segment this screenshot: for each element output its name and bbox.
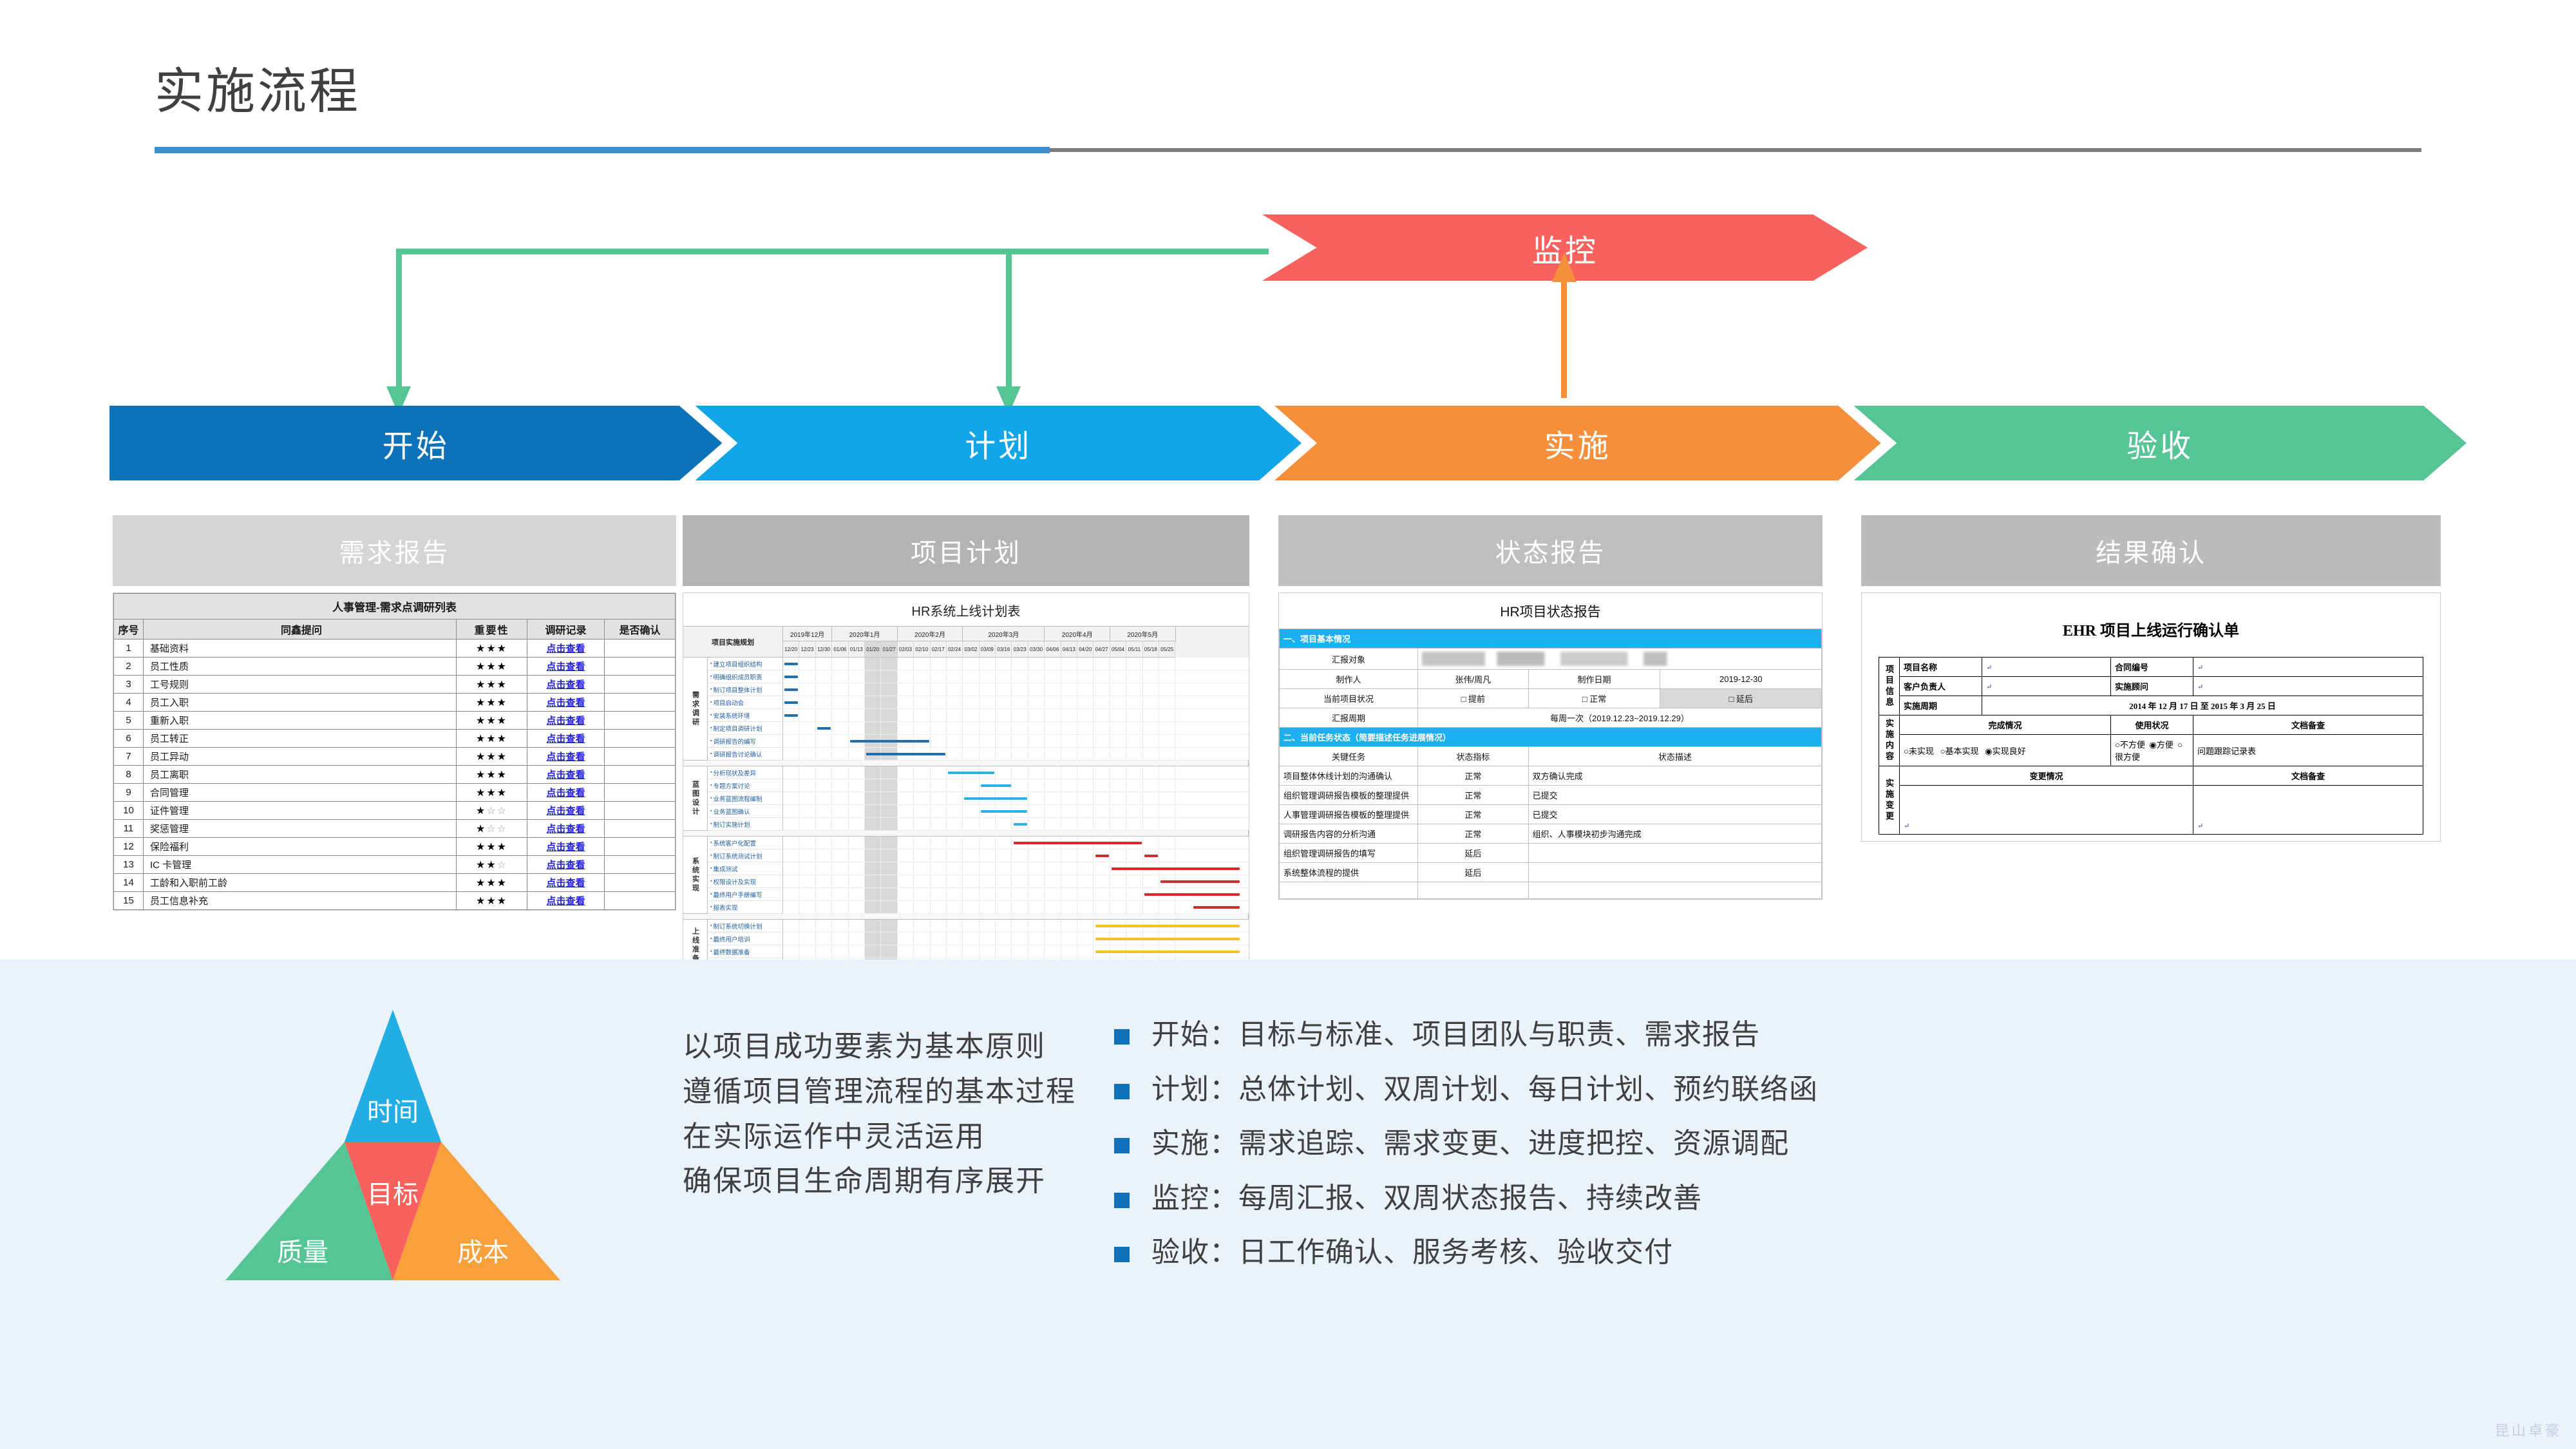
cell-question: 基础资料 [144, 639, 457, 658]
cell-indicator: 正常 [1418, 786, 1529, 805]
requirements-table-title: 人事管理-需求点调研列表 [114, 594, 676, 620]
gantt-task-name: 分析现状及差异 [708, 766, 783, 779]
gantt-task-names: 建立项目组织结构明确组织成员职责制订项目整体计划项目启动会安装系统环境制定项目调… [708, 658, 783, 761]
ehr-row-client-owner: 客户负责人 ↵ 实施顾问 ↵ [1879, 677, 2423, 696]
cell-key-task: 组织管理调研报告模板的整理提供 [1280, 786, 1418, 805]
gantt-bar [964, 797, 1027, 800]
chevron-phase-start[interactable]: 开始 [109, 406, 722, 480]
gantt-task-row [783, 837, 1249, 849]
label-report-to: 汇报对象 [1280, 649, 1418, 670]
cell-question: 保险福利 [144, 838, 457, 856]
cell-importance: ★★★ [457, 784, 527, 802]
chevron-phase-implement[interactable]: 实施 [1274, 406, 1881, 480]
ehr-side-project-info: 项目信息 [1879, 658, 1900, 715]
cell-record[interactable]: 点击查看 [527, 856, 605, 874]
ehr-label-contract-no: 合同编号 [2111, 658, 2193, 677]
table-row [1280, 882, 1822, 899]
cell-record[interactable]: 点击查看 [527, 694, 605, 712]
gantt-month-header: 2019年12月2020年1月2020年2月2020年3月2020年4月2020… [783, 627, 1249, 641]
cell-no: 15 [114, 892, 144, 910]
cell-importance: ★★★ [457, 874, 527, 892]
ehr-label-doc-check: 文档备查 [2193, 715, 2423, 735]
cell-record[interactable]: 点击查看 [527, 766, 605, 784]
cell-importance: ★★★ [457, 639, 527, 658]
view-record-link[interactable]: 点击查看 [546, 788, 585, 799]
card-header-status-report: 状态报告 [1278, 515, 1823, 586]
table-row: 4员工入职★★★点击查看 [114, 694, 676, 712]
gantt-week-8: 02/10 [914, 641, 930, 658]
table-row: 12保险福利★★★点击查看 [114, 838, 676, 856]
gantt-bar [1095, 951, 1240, 953]
cell-no: 4 [114, 694, 144, 712]
gantt-task-row [783, 945, 1249, 958]
ehr-label-period: 实施周期 [1900, 696, 1982, 715]
gantt-week-14: 03/23 [1012, 641, 1028, 658]
ehr-row-period: 实施周期 2014 年 12 月 17 日 至 2015 年 3 月 25 日 [1879, 696, 2423, 715]
view-record-link[interactable]: 点击查看 [546, 842, 585, 853]
gantt-week-3: 01/06 [832, 641, 848, 658]
ehr-label-client-owner: 客户负责人 [1900, 677, 1982, 696]
gantt-task-row [783, 670, 1249, 683]
cell-no: 10 [114, 802, 144, 820]
gantt-week-12: 03/09 [980, 641, 996, 658]
cell-no: 5 [114, 712, 144, 730]
chevron-label-acceptance: 验收 [2126, 421, 2193, 466]
cell-no: 9 [114, 784, 144, 802]
table-row: 14工龄和入职前工龄★★★点击查看 [114, 874, 676, 892]
view-record-link[interactable]: 点击查看 [546, 896, 585, 907]
view-record-link[interactable]: 点击查看 [546, 824, 585, 835]
gantt-phase-separator [683, 831, 783, 837]
col-indicator: 状态指标 [1418, 747, 1529, 766]
gantt-chart: HR系统上线计划表 项目实施规划 需求调研建立项目组织结构明确组织成员职责制订项… [683, 593, 1249, 1016]
ehr-field-doc-check-2[interactable]: ↵ [2193, 786, 2423, 835]
gantt-bar [1014, 823, 1027, 826]
cell-key-task: 人事管理调研报告模板的整理提供 [1280, 805, 1418, 824]
gantt-task-name: 集成测试 [708, 862, 783, 875]
square-bullet-icon [1114, 1138, 1130, 1153]
table-row: 15员工信息补充★★★点击查看 [114, 892, 676, 910]
cell-indicator: 延后 [1418, 863, 1529, 882]
cell-record[interactable]: 点击查看 [527, 748, 605, 766]
gantt-task-row [783, 748, 1249, 761]
cell-confirm[interactable] [605, 784, 676, 802]
label-current-status: 当前项目状况 [1280, 689, 1418, 708]
status-task-body: 项目整体休线计划的沟通确认正常双方确认完成组织管理调研报告模板的整理提供正常已提… [1280, 766, 1822, 899]
cell-no: 3 [114, 676, 144, 694]
cell-question: 合同管理 [144, 784, 457, 802]
view-record-link[interactable]: 点击查看 [546, 878, 585, 889]
checkbox-status-delayed[interactable]: □ 延后 [1660, 689, 1822, 708]
view-record-link[interactable]: 点击查看 [546, 679, 585, 690]
gantt-task-row [783, 696, 1249, 709]
gantt-phase-label: 需求调研 [683, 658, 708, 761]
cell-confirm[interactable] [605, 730, 676, 748]
card-body-result-confirmation: EHR 项目上线运行确认单 项目信息 项目名称 ↵ 合同编号 ↵ 客户负责人 ↵… [1861, 592, 2441, 842]
gantt-bar [784, 676, 798, 678]
view-record-link[interactable]: 点击查看 [546, 752, 585, 762]
square-bullet-icon [1114, 1029, 1130, 1045]
gantt-bar [981, 784, 1011, 787]
col-description: 状态描述 [1528, 747, 1821, 766]
cell-description [1528, 882, 1821, 899]
cell-description: 已提交 [1528, 786, 1821, 805]
ehr-label-usage: 使用状况 [2111, 715, 2193, 735]
gantt-cell-grid [783, 670, 1249, 683]
gantt-phase-separator [683, 761, 783, 766]
cell-importance: ★★★ [457, 712, 527, 730]
table-row: 组织管理调研报告模板的整理提供正常已提交 [1280, 786, 1822, 805]
gantt-cell-grid [783, 849, 1249, 862]
ehr-side-implementation-content: 实施内容 [1879, 715, 1900, 766]
cell-indicator [1418, 882, 1529, 899]
gantt-week-21: 05/11 [1126, 641, 1142, 658]
gantt-task-names: 系统客户化配置制订系统测试计划集成测试权限设计及实现最终用户手册编写报表实现 [708, 837, 783, 914]
gantt-task-name: 制订实施计划 [708, 818, 783, 831]
cell-confirm[interactable] [605, 712, 676, 730]
principle-line: 确保项目生命周期有序展开 [683, 1159, 1076, 1204]
cell-record[interactable]: 点击查看 [527, 874, 605, 892]
gantt-phase-label: 系统实现 [683, 837, 708, 914]
gantt-week-19: 04/27 [1094, 641, 1110, 658]
principle-line: 遵循项目管理流程的基本过程 [683, 1069, 1076, 1114]
gantt-week-18: 04/20 [1077, 641, 1094, 658]
cell-importance: ★★☆ [457, 856, 527, 874]
gantt-bar [866, 753, 945, 755]
cell-confirm[interactable] [605, 838, 676, 856]
gantt-cell-grid [783, 722, 1249, 734]
ehr-form-title: EHR 项目上线运行确认单 [1879, 605, 2423, 657]
cell-confirm[interactable] [605, 802, 676, 820]
list-item: 计划：总体计划、双周计划、每日计划、预约联络函 [1114, 1074, 1818, 1106]
cell-importance: ★★★ [457, 766, 527, 784]
cell-description [1528, 844, 1821, 863]
ehr-label-doc-check-2: 文档备查 [2193, 766, 2423, 786]
card-project-plan: 项目计划 HR系统上线计划表 项目实施规划 需求调研建立项目组织结构明确组织成员… [683, 515, 1249, 1016]
view-record-link[interactable]: 点击查看 [546, 770, 585, 781]
cell-confirm[interactable] [605, 676, 676, 694]
principles-list: 以项目成功要素为基本原则遵循项目管理流程的基本过程在实际运作中灵活运用确保项目生… [683, 1024, 1076, 1204]
cell-confirm[interactable] [605, 639, 676, 658]
gantt-month-1: 2020年1月 [832, 627, 898, 641]
ehr-value-doc-check: 问题跟踪记录表 [2193, 735, 2423, 766]
gantt-task-names: 分析现状及差异专题方案讨论业务蓝图流程编制业务蓝图确认制订实施计划 [708, 766, 783, 831]
cell-indicator: 正常 [1418, 824, 1529, 844]
view-record-link[interactable]: 点击查看 [546, 860, 585, 871]
table-row: 7员工异动★★★点击查看 [114, 748, 676, 766]
ehr-field-change[interactable]: ↵ [1900, 786, 2193, 835]
ehr-radio-group-completion[interactable]: ○未实现 ○基本实现 ◉实现良好 [1900, 735, 2111, 766]
square-bullet-icon [1114, 1247, 1130, 1262]
gantt-phase-2: 系统实现系统客户化配置制订系统测试计划集成测试权限设计及实现最终用户手册编写报表… [683, 837, 783, 914]
redaction-bar [1422, 652, 1817, 666]
gantt-task-name: 业务蓝图确认 [708, 805, 783, 818]
phase-detail-text: 监控：每周汇报、双周状态报告、持续改善 [1151, 1182, 1702, 1215]
gantt-task-name: 系统客户化配置 [708, 837, 783, 849]
view-record-link[interactable]: 点击查看 [546, 661, 585, 672]
gantt-bar [948, 772, 994, 774]
ehr-field-consultant[interactable]: ↵ [2193, 677, 2423, 696]
phase-detail-text: 开始：目标与标准、项目团队与职责、需求报告 [1151, 1019, 1760, 1052]
cell-question: 奖惩管理 [144, 820, 457, 838]
gantt-week-7: 02/03 [898, 641, 914, 658]
ehr-label-consultant: 实施顾问 [2111, 677, 2193, 696]
gantt-task-row [783, 779, 1249, 792]
triangle-diagram: 时间 目标 质量 成本 [213, 1010, 573, 1293]
gantt-cell-grid [783, 901, 1249, 913]
cell-no: 8 [114, 766, 144, 784]
gantt-task-name: 制订系统切换计划 [708, 920, 783, 933]
card-requirements-report: 需求报告 人事管理-需求点调研列表 序号 同鑫提问 重要性 调研记录 是否确认 … [113, 515, 676, 911]
gantt-task-row [783, 849, 1249, 862]
cell-record[interactable]: 点击查看 [527, 892, 605, 910]
col-key-task: 关键任务 [1280, 747, 1418, 766]
gantt-grid: 项目实施规划 需求调研建立项目组织结构明确组织成员职责制订项目整体计划项目启动会… [683, 627, 1249, 1016]
gantt-task-name: 权限设计及实现 [708, 875, 783, 888]
table-row: 8员工离职★★★点击查看 [114, 766, 676, 784]
cell-confirm[interactable] [605, 748, 676, 766]
cell-confirm[interactable] [605, 694, 676, 712]
gantt-task-row [783, 735, 1249, 748]
card-body-requirements: 人事管理-需求点调研列表 序号 同鑫提问 重要性 调研记录 是否确认 1基础资料… [113, 592, 676, 911]
ehr-row-change-body: ↵ ↵ [1879, 786, 2423, 835]
gantt-week-2: 12/30 [816, 641, 832, 658]
cell-key-task: 组织管理调研报告的填写 [1280, 844, 1418, 863]
radio-basically-achieved[interactable]: ○基本实现 [1940, 746, 1979, 756]
gantt-task-name: 调研报告的编写 [708, 735, 783, 748]
status-report-title: HR项目状态报告 [1279, 593, 1822, 629]
cell-record[interactable]: 点击查看 [527, 730, 605, 748]
cell-question: 员工转正 [144, 730, 457, 748]
ehr-row-heads: 实施内容 完成情况 使用状况 文档备查 [1879, 715, 2423, 735]
gantt-week-9: 02/17 [931, 641, 947, 658]
chevron-phase-plan[interactable]: 计划 [695, 406, 1302, 480]
chevron-phase-acceptance[interactable]: 验收 [1854, 406, 2467, 480]
view-record-link[interactable]: 点击查看 [546, 806, 585, 817]
gantt-week-4: 01/13 [849, 641, 865, 658]
gantt-corner-label: 项目实施规划 [683, 627, 783, 658]
table-row: 项目整体休线计划的沟通确认正常双方确认完成 [1280, 766, 1822, 786]
cell-record[interactable]: 点击查看 [527, 838, 605, 856]
cell-key-task [1280, 882, 1418, 899]
gantt-task-row [783, 766, 1249, 779]
col-no: 序号 [114, 620, 144, 639]
checkbox-status-normal[interactable]: □ 正常 [1528, 689, 1660, 708]
cell-no: 14 [114, 874, 144, 892]
card-header-requirements: 需求报告 [113, 515, 676, 586]
title-rule-secondary [1050, 148, 2421, 152]
cell-indicator: 正常 [1418, 766, 1529, 786]
cell-record[interactable]: 点击查看 [527, 676, 605, 694]
status-section-2: 二、当前任务状态（简要描述任务进展情况） [1280, 728, 1822, 747]
ehr-side-implementation-change: 实施变更 [1879, 766, 1900, 835]
gantt-task-row [783, 805, 1249, 818]
status-report-table: 一、项目基本情况 汇报对象 制作人 张伟/周凡 制作日期 2019-12-30 … [1279, 629, 1822, 899]
gantt-phase-0: 需求调研建立项目组织结构明确组织成员职责制订项目整体计划项目启动会安装系统环境制… [683, 658, 783, 761]
gantt-cell-grid [783, 766, 1249, 779]
gantt-task-name: 安装系统环境 [708, 709, 783, 722]
gantt-task-name: 制订系统测试计划 [708, 849, 783, 862]
table-row: 6员工转正★★★点击查看 [114, 730, 676, 748]
gantt-week-15: 03/30 [1028, 641, 1045, 658]
gantt-cell-grid [783, 683, 1249, 696]
table-row: 3工号规则★★★点击查看 [114, 676, 676, 694]
triangle-label-quality: 质量 [277, 1238, 328, 1267]
ehr-label-completion: 完成情况 [1900, 715, 2111, 735]
gantt-task-row [783, 683, 1249, 696]
card-status-report: 状态报告 HR项目状态报告 一、项目基本情况 汇报对象 制作人 张伟/周凡 制作… [1278, 515, 1823, 900]
cell-record[interactable]: 点击查看 [527, 820, 605, 838]
gantt-task-name: 制订项目整体计划 [708, 683, 783, 696]
cell-question: 员工异动 [144, 748, 457, 766]
cell-record[interactable]: 点击查看 [527, 658, 605, 676]
gantt-week-11: 03/02 [963, 641, 979, 658]
cell-description [1528, 863, 1821, 882]
view-record-link[interactable]: 点击查看 [546, 734, 585, 744]
ehr-row-project-name: 项目信息 项目名称 ↵ 合同编号 ↵ [1879, 658, 2423, 677]
status-section-1: 一、项目基本情况 [1280, 629, 1822, 649]
cell-question: 员工离职 [144, 766, 457, 784]
label-date: 制作日期 [1528, 670, 1660, 689]
radio-convenient[interactable]: ◉方便 [2149, 740, 2173, 750]
cell-no: 12 [114, 838, 144, 856]
ehr-field-project-name[interactable]: ↵ [1982, 658, 2111, 677]
cell-importance: ★★★ [457, 694, 527, 712]
cell-no: 7 [114, 748, 144, 766]
view-record-link[interactable]: 点击查看 [546, 643, 585, 654]
requirements-table-body: 1基础资料★★★点击查看2员工性质★★★点击查看3工号规则★★★点击查看4员工入… [114, 639, 676, 910]
gantt-bar [1193, 906, 1240, 909]
radio-well-achieved[interactable]: ◉实现良好 [1985, 746, 2025, 756]
cell-record[interactable]: 点击查看 [527, 639, 605, 658]
gantt-month-4: 2020年4月 [1045, 627, 1110, 641]
cell-question: 员工入职 [144, 694, 457, 712]
gantt-bar [1144, 893, 1240, 896]
gantt-bar [1160, 880, 1240, 883]
gantt-bar [1144, 855, 1158, 857]
square-bullet-icon [1114, 1193, 1130, 1208]
ehr-field-client-owner[interactable]: ↵ [1982, 677, 2111, 696]
gantt-month-2: 2020年2月 [898, 627, 963, 641]
table-row: 系统整体流程的提供延后 [1280, 863, 1822, 882]
ehr-form-table: 项目信息 项目名称 ↵ 合同编号 ↵ 客户负责人 ↵ 实施顾问 ↵ 实施周期 2… [1879, 657, 2423, 835]
gantt-task-name: 制定项目调研计划 [708, 722, 783, 735]
gantt-bar [784, 663, 798, 665]
gantt-task-row [783, 658, 1249, 670]
gantt-task-name: 业务蓝图流程编制 [708, 792, 783, 805]
cell-key-task: 系统整体流程的提供 [1280, 863, 1418, 882]
cell-question: 员工信息补充 [144, 892, 457, 910]
gantt-bar [1095, 925, 1240, 927]
ehr-field-period[interactable]: 2014 年 12 月 17 日 至 2015 年 3 月 25 日 [1982, 696, 2423, 715]
table-row: 9合同管理★★★点击查看 [114, 784, 676, 802]
value-report-to-redacted [1418, 649, 1822, 670]
gantt-phase-separator-right [783, 914, 1249, 920]
phase-detail-text: 验收：日工作确认、服务考核、验收交付 [1151, 1236, 1673, 1269]
cell-confirm[interactable] [605, 820, 676, 838]
cell-importance: ★☆☆ [457, 820, 527, 838]
principle-line: 以项目成功要素为基本原则 [683, 1024, 1076, 1069]
gantt-week-22: 05/18 [1143, 641, 1159, 658]
gantt-task-row [783, 888, 1249, 901]
gantt-phase-1: 蓝图设计分析现状及差异专题方案讨论业务蓝图流程编制业务蓝图确认制订实施计划 [683, 766, 783, 831]
cell-question: 证件管理 [144, 802, 457, 820]
gantt-week-6: 01/27 [881, 641, 897, 658]
cell-confirm[interactable] [605, 658, 676, 676]
ehr-row-options: ○未实现 ○基本实现 ◉实现良好 ○不方便 ◉方便 ○很方便 问题跟踪记录表 [1879, 735, 2423, 766]
gantt-cell-grid [783, 779, 1249, 791]
table-row: 13IC 卡管理★★☆点击查看 [114, 856, 676, 874]
view-record-link[interactable]: 点击查看 [546, 715, 585, 726]
gantt-title: HR系统上线计划表 [683, 593, 1249, 627]
chevron-label-start: 开始 [383, 421, 450, 466]
gantt-task-name: 项目启动会 [708, 696, 783, 709]
requirements-header-row: 序号 同鑫提问 重要性 调研记录 是否确认 [114, 620, 676, 639]
gantt-cell-grid [783, 658, 1249, 670]
cell-importance: ★★★ [457, 730, 527, 748]
status-task-header: 关键任务 状态指标 状态描述 [1280, 747, 1822, 766]
value-date: 2019-12-30 [1660, 670, 1822, 689]
table-row: 调研报告内容的分析沟通正常组织、人事模块初步沟通完成 [1280, 824, 1822, 844]
gantt-task-row [783, 901, 1249, 914]
ehr-label-change: 变更情况 [1900, 766, 2193, 786]
chevron-label-implement: 实施 [1544, 421, 1611, 466]
gantt-week-17: 04/13 [1061, 641, 1077, 658]
gantt-task-name: 最终用户培训 [708, 933, 783, 945]
cell-question: 员工性质 [144, 658, 457, 676]
gantt-task-name: 最终用户手册编写 [708, 888, 783, 901]
gantt-task-name: 明确组织成员职责 [708, 670, 783, 683]
table-row: 组织管理调研报告的填写延后 [1280, 844, 1822, 863]
cell-confirm[interactable] [605, 874, 676, 892]
gantt-phase-separator-right [783, 761, 1249, 766]
gantt-week-10: 02/24 [947, 641, 963, 658]
gantt-week-1: 12/23 [799, 641, 815, 658]
cell-record[interactable]: 点击查看 [527, 784, 605, 802]
table-row: 1基础资料★★★点击查看 [114, 639, 676, 658]
triangle-label-goal: 目标 [367, 1180, 419, 1209]
ehr-field-contract-no[interactable]: ↵ [2193, 658, 2423, 677]
view-record-link[interactable]: 点击查看 [546, 697, 585, 708]
cell-description: 双方确认完成 [1528, 766, 1821, 786]
gantt-task-row [783, 709, 1249, 722]
cell-confirm[interactable] [605, 892, 676, 910]
cell-importance: ★★★ [457, 892, 527, 910]
gantt-week-5: 01/20 [865, 641, 881, 658]
ehr-form: EHR 项目上线运行确认单 项目信息 项目名称 ↵ 合同编号 ↵ 客户负责人 ↵… [1862, 593, 2440, 841]
checkbox-status-ahead[interactable]: □ 提前 [1418, 689, 1529, 708]
status-row-author: 制作人 张伟/周凡 制作日期 2019-12-30 [1280, 670, 1822, 689]
cell-importance: ★★★ [457, 748, 527, 766]
gantt-task-name: 最终数据准备 [708, 945, 783, 958]
cell-no: 2 [114, 658, 144, 676]
cell-record[interactable]: 点击查看 [527, 802, 605, 820]
radio-inconvenient[interactable]: ○不方便 [2115, 740, 2145, 750]
requirements-table: 人事管理-需求点调研列表 序号 同鑫提问 重要性 调研记录 是否确认 1基础资料… [113, 593, 676, 910]
cell-confirm[interactable] [605, 766, 676, 784]
radio-not-achieved[interactable]: ○未实现 [1904, 746, 1934, 756]
ehr-radio-group-usage[interactable]: ○不方便 ◉方便 ○很方便 [2111, 735, 2193, 766]
requirements-table-head: 人事管理-需求点调研列表 序号 同鑫提问 重要性 调研记录 是否确认 [114, 594, 676, 639]
principle-line: 在实际运作中灵活运用 [683, 1114, 1076, 1159]
gantt-week-0: 12/20 [783, 641, 799, 658]
ehr-label-project-name: 项目名称 [1900, 658, 1982, 677]
cell-confirm[interactable] [605, 856, 676, 874]
gantt-week-20: 05/04 [1110, 641, 1126, 658]
cell-description: 组织、人事模块初步沟通完成 [1528, 824, 1821, 844]
cell-record[interactable]: 点击查看 [527, 712, 605, 730]
gantt-task-name: 建立项目组织结构 [708, 658, 783, 670]
